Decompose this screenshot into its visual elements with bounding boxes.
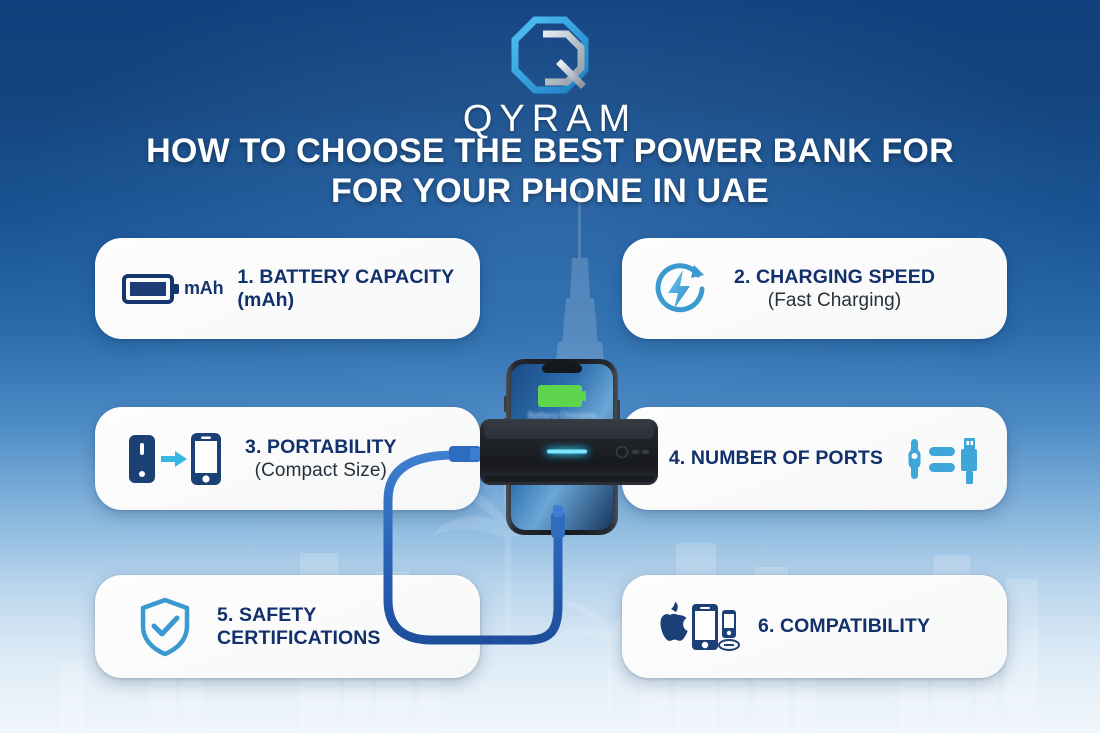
card-battery-capacity-label: 1. BATTERY CAPACITY (mAh) [237,266,480,312]
card-charging-speed-label: 2. CHARGING SPEED (Fast Charging) [734,266,935,312]
title-line-1: HOW TO CHOOSE THE BEST POWER BANK FOR [146,132,954,170]
card-portability[interactable]: 3. PORTABILITY (Compact Size) [95,407,480,510]
octagon-q-logo [507,14,593,96]
card-compatibility[interactable]: 6. COMPATIBILITY [622,575,1007,678]
infographic-canvas: QYRAM HOW TO CHOOSE THE BEST POWER BANK … [0,0,1100,733]
card-charging-speed[interactable]: 2. CHARGING SPEED (Fast Charging) [622,238,1007,339]
card-number-of-ports-label: 4. NUMBER OF PORTS [669,447,883,470]
card-portability-subtitle: (Compact Size) [245,459,397,482]
card-safety-certifications-label: 5. SAFETY CERTIFICATIONS [217,604,480,650]
card-compatibility-label: 6. COMPATIBILITY [758,615,930,638]
brand-logo: QYRAM [0,14,1100,141]
card-charging-speed-subtitle: (Fast Charging) [734,289,935,312]
card-portability-label: 3. PORTABILITY (Compact Size) [245,436,397,482]
apple-devices-icon [658,596,740,658]
title-line-2: FOR YOUR PHONE IN UAE [0,171,1100,211]
portability-icon [127,429,223,489]
shield-check-icon [137,596,193,658]
card-portability-title: 3. PORTABILITY [245,436,397,458]
card-safety-certifications[interactable]: 5. SAFETY CERTIFICATIONS [95,575,480,678]
card-battery-capacity[interactable]: mAh 1. BATTERY CAPACITY (mAh) [95,238,480,339]
card-charging-speed-title: 2. CHARGING SPEED [734,266,935,288]
battery-icon-caption: mAh [184,278,223,299]
battery-icon: mAh [122,272,223,306]
usb-ports-icon [907,431,979,487]
fast-charging-icon [650,258,712,320]
card-number-of-ports[interactable]: 4. NUMBER OF PORTS [622,407,1007,510]
page-title: HOW TO CHOOSE THE BEST POWER BANK FOR FO… [0,131,1100,211]
